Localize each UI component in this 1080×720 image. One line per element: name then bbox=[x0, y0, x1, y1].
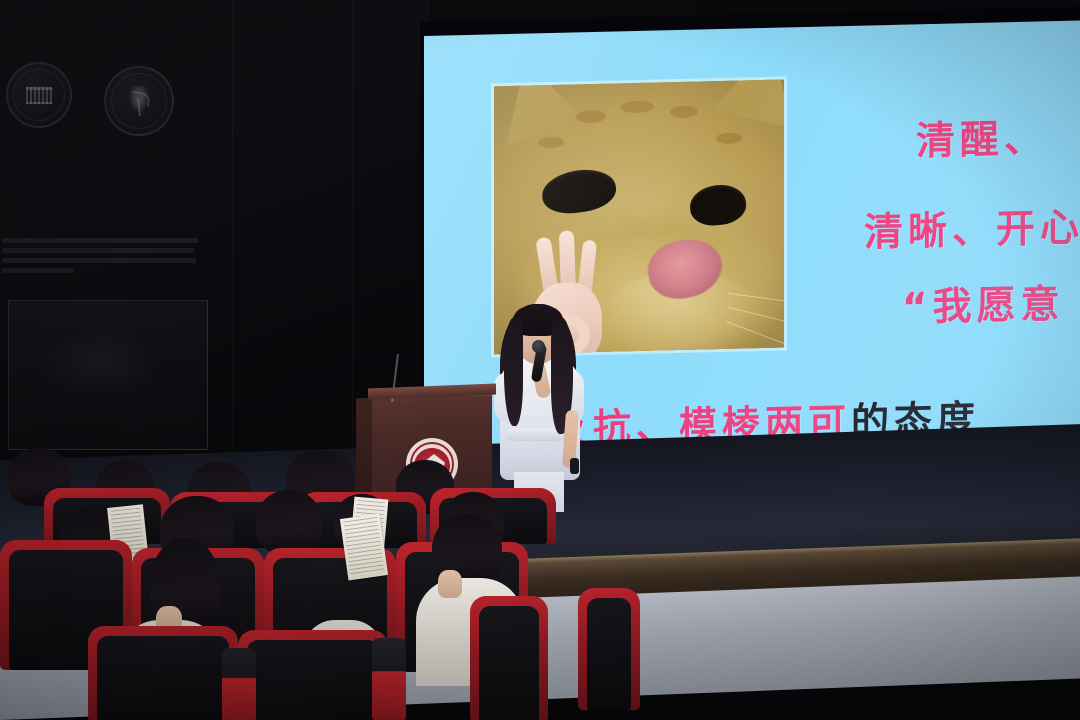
emblem-leaf-icon bbox=[104, 66, 174, 136]
wall-seam bbox=[352, 0, 353, 470]
seat-armrest bbox=[222, 648, 256, 720]
wall-display-glow bbox=[39, 329, 159, 399]
audience-seat bbox=[238, 630, 388, 720]
slide-text-line-3: “我愿意 bbox=[902, 273, 1065, 333]
seat-armrest bbox=[372, 638, 406, 720]
audience-seating bbox=[0, 430, 1080, 720]
wall-display-panel bbox=[8, 300, 208, 450]
audience-seat bbox=[470, 596, 548, 720]
auditorium-scene: 清醒、 清晰、开心 “我愿意 、不反抗、模棱两可的态度 bbox=[0, 0, 1080, 720]
building-glyph bbox=[26, 87, 52, 104]
audience-hand bbox=[438, 570, 462, 598]
leaf-glyph bbox=[127, 86, 151, 116]
emblem-building-icon bbox=[6, 62, 72, 128]
audience-head bbox=[256, 490, 322, 554]
cat-eye-right bbox=[688, 182, 747, 228]
cat-ear-right bbox=[712, 80, 784, 129]
cat-eye-left bbox=[540, 165, 619, 217]
handout-paper bbox=[340, 514, 388, 581]
presenter-hair-left bbox=[504, 318, 523, 426]
emblem-leaf-inner bbox=[111, 73, 167, 129]
audience-seat bbox=[578, 588, 640, 710]
audience-seat bbox=[88, 626, 238, 720]
slide-text-line-2: 清晰、开心 bbox=[864, 196, 1080, 257]
wall-seam bbox=[232, 0, 233, 470]
wall-signage-text bbox=[2, 238, 202, 298]
slide-text-line-1: 清醒、 bbox=[916, 107, 1048, 166]
microphone-head bbox=[532, 340, 545, 353]
emblem-building-inner bbox=[13, 69, 65, 121]
cat-ear-left bbox=[494, 80, 587, 147]
